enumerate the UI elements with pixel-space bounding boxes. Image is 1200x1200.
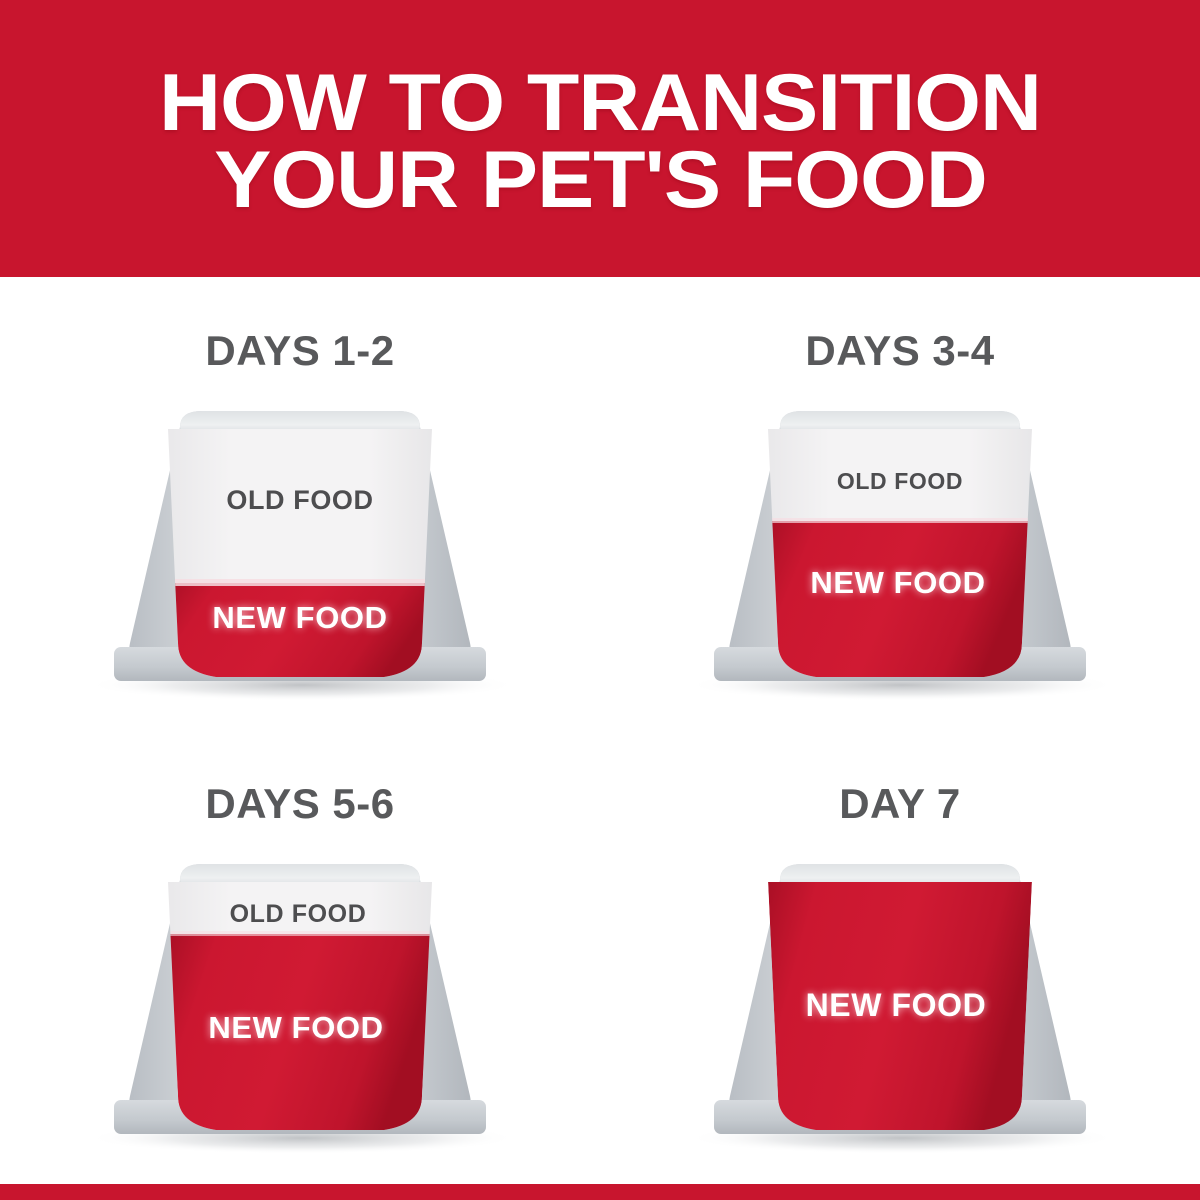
header-banner: HOW TO TRANSITION YOUR PET'S FOOD <box>0 0 1200 277</box>
new-food-label-4: NEW FOOD <box>806 987 987 1023</box>
panel-days-1-2: DAYS 1-2 <box>0 277 600 730</box>
panel-title-day-7: DAY 7 <box>600 780 1200 828</box>
footer-accent-bar <box>0 1184 1200 1200</box>
panel-title-days-3-4: DAYS 3-4 <box>600 327 1200 375</box>
bowl-illustration-4: NEW FOOD <box>630 838 1170 1168</box>
bowl-days-5-6: OLD FOOD NEW FOOD <box>30 838 570 1168</box>
panel-title-days-5-6: DAYS 5-6 <box>0 780 600 828</box>
bowl-illustration-2: OLD FOOD NEW FOOD <box>630 385 1170 715</box>
bowl-day-7: NEW FOOD <box>630 838 1170 1168</box>
header-title-line-1: HOW TO TRANSITION <box>159 65 1041 142</box>
panel-days-5-6: DAYS 5-6 <box>0 730 600 1183</box>
panel-day-7: DAY 7 <box>600 730 1200 1183</box>
old-food-label-1: OLD FOOD <box>226 485 373 515</box>
old-food-label-2: OLD FOOD <box>837 468 963 494</box>
panel-title-days-1-2: DAYS 1-2 <box>0 327 600 375</box>
new-food-label-3: NEW FOOD <box>208 1010 383 1045</box>
header-title-line-2: YOUR PET'S FOOD <box>214 142 987 219</box>
new-food-label-2: NEW FOOD <box>810 565 985 600</box>
bowl-days-1-2: OLD FOOD NEW FOOD <box>30 385 570 715</box>
old-food-label-3: OLD FOOD <box>230 900 367 928</box>
new-food-label-1: NEW FOOD <box>212 600 387 635</box>
bowl-days-3-4: OLD FOOD NEW FOOD <box>630 385 1170 715</box>
bowl-illustration-3: OLD FOOD NEW FOOD <box>30 838 570 1168</box>
bowl-panel-grid: DAYS 1-2 <box>0 277 1200 1184</box>
panel-days-3-4: DAYS 3-4 <box>600 277 1200 730</box>
bowl-illustration-1: OLD FOOD NEW FOOD <box>30 385 570 715</box>
